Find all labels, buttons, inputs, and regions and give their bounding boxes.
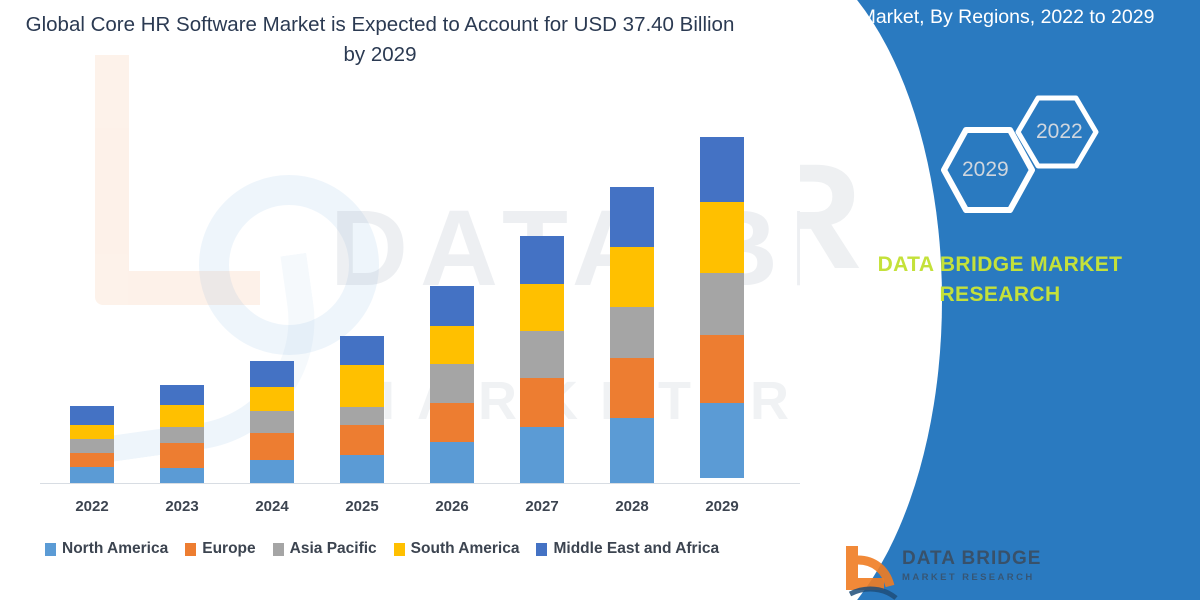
x-axis-label: 2022: [47, 498, 137, 515]
legend-item[interactable]: Asia Pacific: [273, 540, 377, 558]
legend-label: North America: [62, 540, 168, 558]
bar-segment[interactable]: [70, 425, 114, 439]
bar-segment[interactable]: [250, 411, 294, 433]
bar-segment[interactable]: [700, 335, 744, 403]
x-axis-tick-labels: 20222023202420252026202720282029: [0, 498, 820, 522]
chart-infographic: DATA BRIDGE MARKET RESEARCH Global Core …: [0, 0, 1200, 600]
bar-segment[interactable]: [520, 427, 564, 483]
bar-segment[interactable]: [610, 307, 654, 358]
brand-line-1: DATA BRIDGE MARKET: [878, 253, 1123, 276]
brand-line-2: RESEARCH: [939, 283, 1060, 306]
bar-segment[interactable]: [70, 406, 114, 425]
legend-swatch: [185, 543, 196, 556]
x-axis-label: 2028: [587, 498, 677, 515]
bar-segment[interactable]: [160, 405, 204, 427]
bar-segment[interactable]: [340, 425, 384, 456]
bar-group[interactable]: [70, 406, 114, 483]
legend-item[interactable]: South America: [394, 540, 520, 558]
bar-segment[interactable]: [610, 418, 654, 483]
company-logo: DATA BRIDGE MARKET RESEARCH: [840, 542, 1070, 600]
bar-segment[interactable]: [160, 468, 204, 483]
x-axis-line: [40, 483, 800, 484]
bar-segment[interactable]: [430, 403, 474, 442]
bar-segment[interactable]: [70, 453, 114, 467]
branding-panel: R Market, By Regions, 2022 to 2029 2022 …: [800, 0, 1200, 600]
bar-group[interactable]: [430, 286, 474, 483]
bar-segment[interactable]: [430, 364, 474, 404]
bar-segment[interactable]: [520, 284, 564, 331]
x-axis-label: 2029: [677, 498, 767, 515]
bar-segment[interactable]: [430, 286, 474, 326]
logo-mark-icon: [840, 542, 900, 600]
bar-segment[interactable]: [250, 361, 294, 387]
chart-plot-area: 20222023202420252026202720282029: [0, 0, 820, 600]
legend-swatch: [273, 543, 284, 556]
bar-segment[interactable]: [160, 427, 204, 443]
bar-segment[interactable]: [160, 443, 204, 468]
bar-segment[interactable]: [430, 442, 474, 483]
x-axis-label: 2027: [497, 498, 587, 515]
bar-segment[interactable]: [340, 336, 384, 366]
legend-label: Asia Pacific: [290, 540, 377, 558]
bar-segment[interactable]: [340, 365, 384, 407]
bar-segment[interactable]: [430, 326, 474, 364]
logo-subtitle: MARKET RESEARCH: [902, 572, 1035, 583]
bar-group[interactable]: [160, 385, 204, 483]
legend-swatch: [45, 543, 56, 556]
bar-segment[interactable]: [250, 387, 294, 411]
hexagon-back-label: 2022: [1036, 120, 1083, 144]
bar-group[interactable]: [520, 236, 564, 483]
bar-segment[interactable]: [700, 403, 744, 478]
panel-title: Market, By Regions, 2022 to 2029: [800, 6, 1200, 29]
hexagon-front-label: 2029: [962, 158, 1009, 182]
bar-segment[interactable]: [160, 385, 204, 405]
brand-name: DATA BRIDGE MARKET RESEARCH: [800, 250, 1200, 310]
hexagon-icons: [918, 90, 1118, 230]
bar-segment[interactable]: [700, 273, 744, 335]
bar-segment[interactable]: [340, 455, 384, 483]
legend-item[interactable]: North America: [45, 540, 168, 558]
bar-segment[interactable]: [250, 433, 294, 460]
bar-group[interactable]: [340, 336, 384, 483]
legend-swatch: [536, 543, 547, 556]
bar-segment[interactable]: [340, 407, 384, 425]
bar-segment[interactable]: [520, 331, 564, 377]
logo-wordmark: DATA BRIDGE: [902, 548, 1041, 570]
x-axis-label: 2026: [407, 498, 497, 515]
bar-segment[interactable]: [700, 202, 744, 273]
bar-segment[interactable]: [520, 378, 564, 427]
bar-segment[interactable]: [610, 187, 654, 247]
bar-segment[interactable]: [70, 467, 114, 483]
bar-segment[interactable]: [520, 236, 564, 284]
bar-group[interactable]: [610, 187, 654, 483]
x-axis-label: 2024: [227, 498, 317, 515]
bar-segment[interactable]: [610, 358, 654, 418]
bar-segment[interactable]: [610, 247, 654, 307]
chart-legend: North AmericaEuropeAsia PacificSouth Ame…: [45, 540, 805, 558]
legend-label: South America: [411, 540, 520, 558]
legend-label: Europe: [202, 540, 255, 558]
bar-segment[interactable]: [700, 137, 744, 202]
hexagon-group: 2022 2029: [918, 90, 1118, 230]
x-axis-label: 2025: [317, 498, 407, 515]
legend-swatch: [394, 543, 405, 556]
legend-item[interactable]: Europe: [185, 540, 255, 558]
bar-group[interactable]: [700, 137, 744, 483]
bar-segment[interactable]: [70, 439, 114, 454]
bar-group[interactable]: [250, 361, 294, 483]
bar-segment[interactable]: [250, 460, 294, 483]
legend-item[interactable]: Middle East and Africa: [536, 540, 719, 558]
x-axis-label: 2023: [137, 498, 227, 515]
legend-label: Middle East and Africa: [553, 540, 719, 558]
